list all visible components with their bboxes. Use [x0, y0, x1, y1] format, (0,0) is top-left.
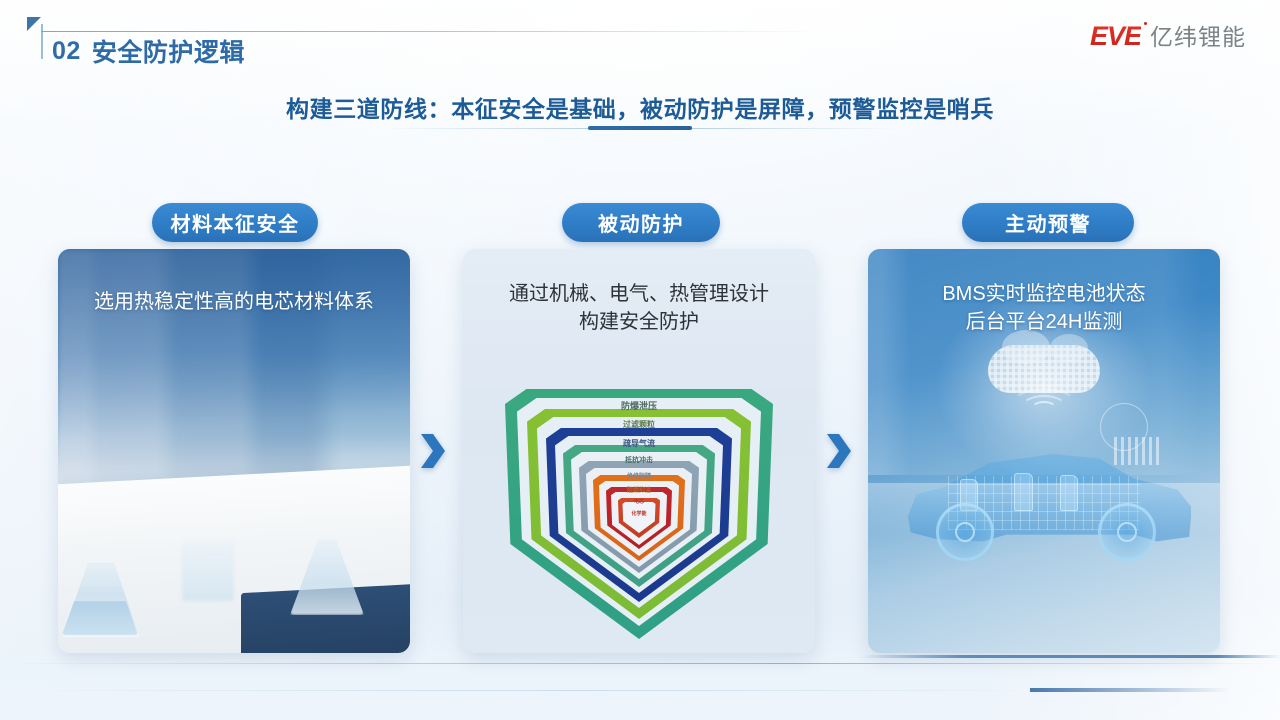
corner-triangle-icon: [27, 17, 41, 31]
logo-eve-text: EVE: [1090, 21, 1141, 52]
page-title: 02 安全防护逻辑: [52, 31, 245, 71]
card-active-warning[interactable]: BMS实时监控电池状态 后台平台24H监测: [868, 249, 1220, 653]
badge-active-warning[interactable]: 主动预警: [962, 203, 1134, 242]
card-2-body-text: 通过机械、电气、热管理设计 构建安全防护: [463, 280, 815, 337]
shield-label-1: 防爆泄压: [505, 399, 773, 412]
bms-floor-reflection: [868, 483, 1220, 653]
card-1-body-text: 选用热稳定性高的电芯材料体系: [58, 288, 410, 316]
shield-label-3: 疏导气流: [505, 438, 773, 449]
section-number: 02: [52, 37, 81, 66]
shield-label-4: 抵抗冲击: [505, 455, 773, 465]
card-2-body-line-1: 通过机械、电气、热管理设计: [463, 280, 815, 308]
eve-logo: EVE 亿纬锂能: [1090, 18, 1246, 52]
shield-label-2: 过滤颗粒: [505, 419, 773, 430]
decor-line-divider: [0, 663, 1280, 664]
subtitle-underline-accent: [588, 126, 692, 130]
hud-bar-chart-icon: [1114, 437, 1162, 465]
slide-subtitle: 构建三道防线：本征安全是基础，被动防护是屏障，预警监控是哨兵: [0, 90, 1280, 124]
card-material-intrinsic-safety[interactable]: 选用热稳定性高的电芯材料体系: [58, 249, 410, 653]
cloud-icon: [988, 345, 1100, 393]
slide-header: 02 安全防护逻辑 EVE 亿纬锂能: [0, 0, 1280, 72]
shield-label-6: 阻燃抑温: [505, 485, 773, 494]
logo-registered-dot-icon: [1144, 22, 1147, 25]
shield-label-5: 绝缘阻隔: [505, 471, 773, 480]
card-2-body-line-2: 构建安全防护: [463, 308, 815, 336]
decor-line-accent: [860, 655, 1280, 658]
nested-shield-diagram: 防爆泄压 过滤颗粒 疏导气流 抵抗冲击 绝缘阻隔 阻燃抑温 电芯 化学能: [505, 389, 773, 641]
badge-passive-protection[interactable]: 被动防护: [562, 203, 720, 242]
badge-material-intrinsic-safety[interactable]: 材料本征安全: [152, 203, 318, 242]
card-3-body-line-2: 后台平台24H监测: [868, 308, 1220, 336]
decor-line-accent-short: [1030, 688, 1230, 692]
header-vertical-rule: [41, 24, 43, 59]
card-3-body-line-1: BMS实时监控电池状态: [868, 280, 1220, 308]
card-passive-protection[interactable]: 通过机械、电气、热管理设计 构建安全防护 防爆泄压 过滤颗粒 疏导气流 抵抗冲击…: [463, 249, 815, 653]
arrow-chevron-right-2-icon: [826, 432, 852, 470]
arrow-chevron-right-1-icon: [420, 432, 446, 470]
decor-line-bottom-thin: [0, 690, 1050, 691]
section-title-label: 安全防护逻辑: [92, 33, 245, 69]
logo-company-name: 亿纬锂能: [1150, 18, 1246, 52]
signal-wave-inner-icon: [1031, 401, 1057, 416]
card-3-body-text: BMS实时监控电池状态 后台平台24H监测: [868, 280, 1220, 337]
shield-label-7: 电芯: [505, 498, 773, 505]
shield-label-8: 化学能: [505, 510, 773, 517]
